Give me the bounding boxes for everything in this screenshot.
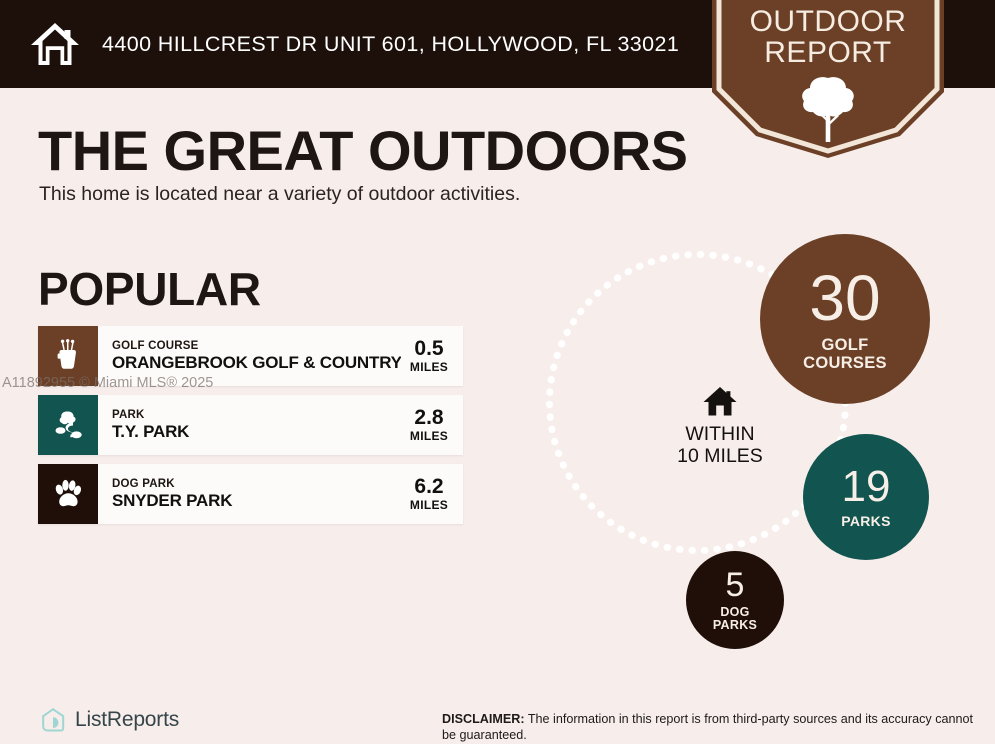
page-subtitle: This home is located near a variety of o…	[39, 183, 520, 206]
stat-label: DOG PARKS	[713, 606, 757, 633]
list-item-name: SNYDER PARK	[112, 491, 401, 510]
paw-icon	[51, 477, 85, 511]
stat-count: 5	[726, 568, 745, 602]
park-icon	[51, 408, 85, 442]
list-item-body: DOG PARK SNYDER PARK	[98, 464, 401, 524]
golf-bag-icon	[51, 339, 85, 373]
list-item-body: PARK T.Y. PARK	[98, 395, 401, 455]
home-icon	[703, 386, 737, 417]
within-label: WITHIN 10 MILES	[640, 423, 800, 467]
property-address: 4400 HILLCREST DR UNIT 601, HOLLYWOOD, F…	[102, 32, 679, 57]
stat-bubble-dog-parks: 5 DOG PARKS	[686, 551, 784, 649]
distance-value: 0.5	[414, 338, 443, 360]
radius-center-label: WITHIN 10 MILES	[640, 386, 800, 467]
list-item[interactable]: PARK T.Y. PARK 2.8 MILES	[38, 395, 463, 455]
list-item-name: ORANGEBROOK GOLF & COUNTRY CLUB	[112, 353, 401, 372]
list-item-icon-wrap	[38, 395, 98, 455]
stat-label: GOLF COURSES	[803, 336, 887, 372]
stat-count: 19	[842, 465, 891, 509]
brand-name: ListReports	[75, 708, 179, 732]
stat-label: PARKS	[841, 514, 890, 529]
badge-title: OUTDOOR REPORT	[712, 6, 944, 68]
within-line-2: 10 MILES	[640, 445, 800, 467]
list-item-name: T.Y. PARK	[112, 422, 401, 441]
disclaimer: DISCLAIMER: The information in this repo…	[442, 712, 977, 743]
home-icon	[30, 21, 80, 67]
list-item-category: GOLF COURSE	[112, 340, 401, 353]
badge-line-2: REPORT	[712, 37, 944, 68]
list-item-icon-wrap	[38, 464, 98, 524]
listreports-brand[interactable]: ListReports	[40, 707, 179, 733]
list-item[interactable]: DOG PARK SNYDER PARK 6.2 MILES	[38, 464, 463, 524]
listreports-house-icon	[40, 707, 66, 733]
stat-label-line-1: DOG	[720, 605, 749, 619]
stat-label-line-2: PARKS	[713, 618, 757, 632]
list-item-distance: 2.8 MILES	[401, 395, 463, 455]
badge-line-1: OUTDOOR	[750, 5, 907, 38]
distance-unit: MILES	[410, 498, 448, 512]
list-item-category: PARK	[112, 409, 401, 422]
distance-unit: MILES	[410, 360, 448, 374]
stat-label-line-1: GOLF	[821, 336, 868, 354]
mls-watermark: A11892955 © Miami MLS® 2025	[2, 375, 213, 391]
list-item-category: DOG PARK	[112, 478, 401, 491]
header-content: 4400 HILLCREST DR UNIT 601, HOLLYWOOD, F…	[30, 0, 679, 88]
outdoor-report-badge: OUTDOOR REPORT	[712, 0, 944, 158]
section-title-popular: POPULAR	[38, 262, 261, 316]
distance-value: 2.8	[414, 407, 443, 429]
stat-count: 30	[809, 266, 880, 330]
list-item-distance: 6.2 MILES	[401, 464, 463, 524]
stat-label-line-2: COURSES	[803, 354, 887, 372]
disclaimer-label: DISCLAIMER:	[442, 712, 525, 726]
list-item-distance: 0.5 MILES	[401, 326, 463, 386]
outdoor-report-page: 4400 HILLCREST DR UNIT 601, HOLLYWOOD, F…	[0, 0, 995, 744]
stat-bubble-golf-courses: 30 GOLF COURSES	[760, 234, 930, 404]
popular-list: GOLF COURSE ORANGEBROOK GOLF & COUNTRY C…	[38, 326, 463, 533]
within-line-1: WITHIN	[640, 423, 800, 445]
page-title: THE GREAT OUTDOORS	[38, 118, 688, 183]
distance-value: 6.2	[414, 476, 443, 498]
stat-bubble-parks: 19 PARKS	[803, 434, 929, 560]
distance-unit: MILES	[410, 429, 448, 443]
